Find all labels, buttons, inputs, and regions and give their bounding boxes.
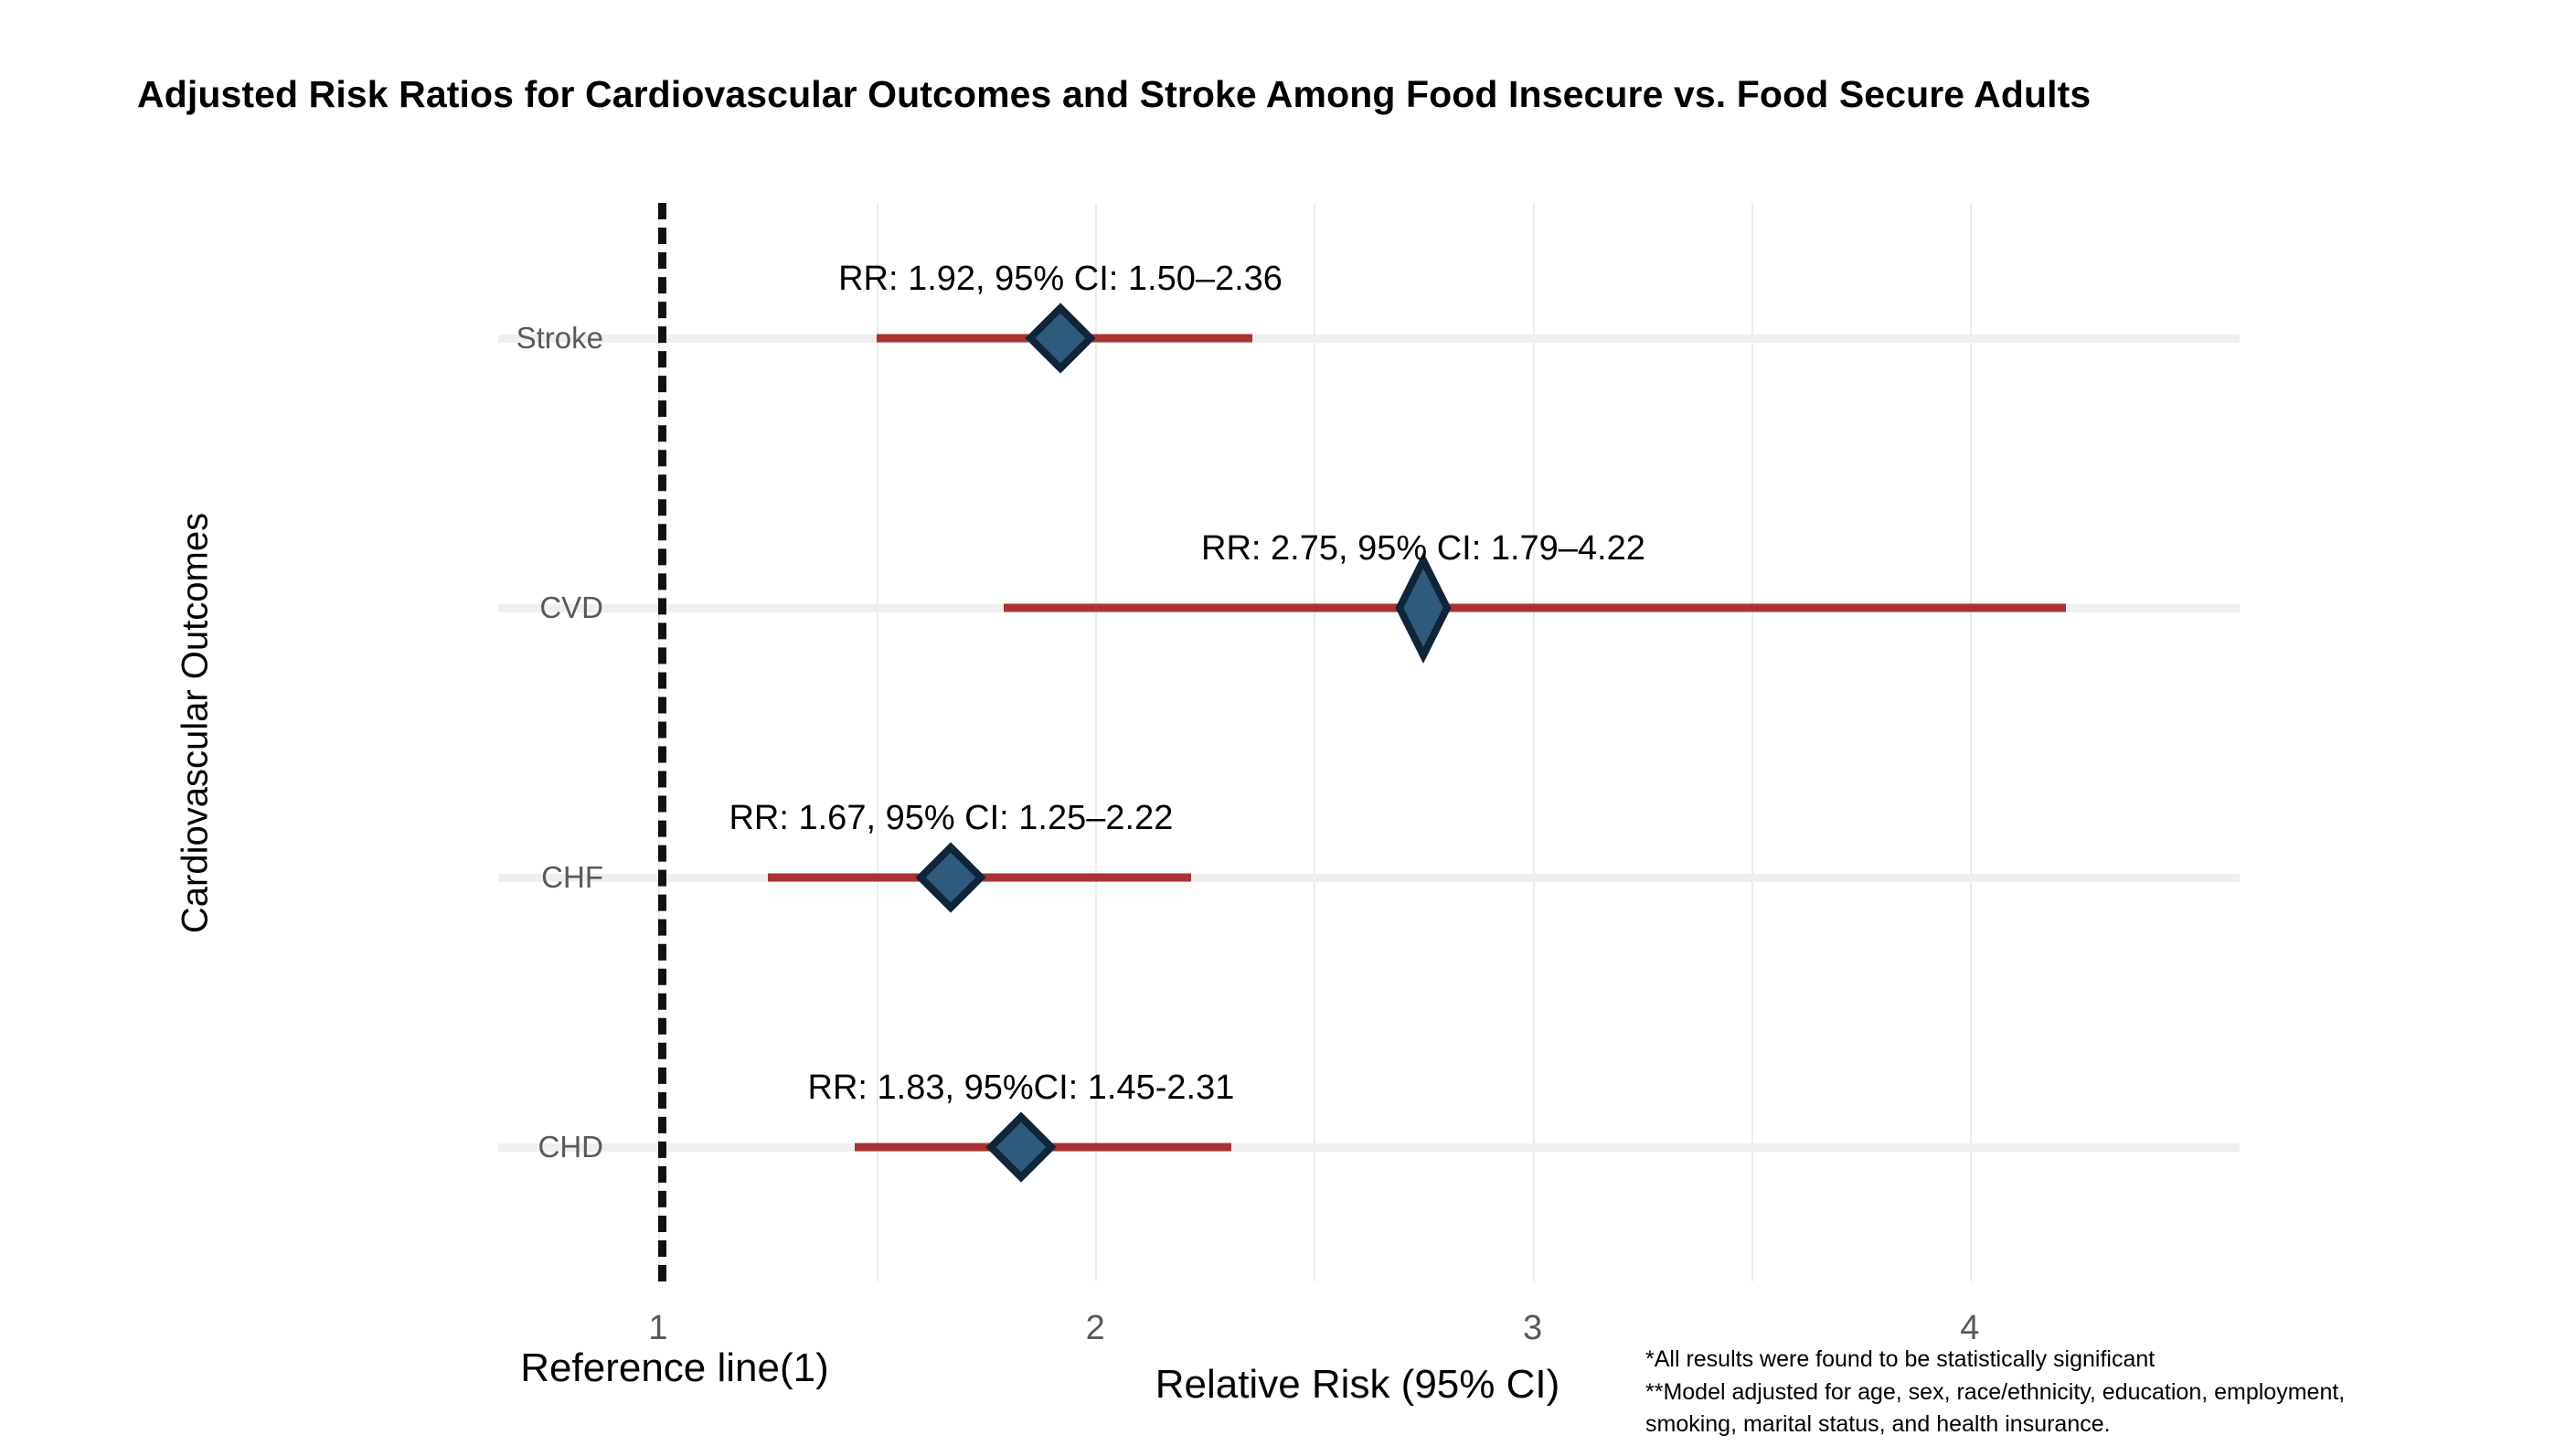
x-tick-label-4: 4: [1960, 1309, 1979, 1348]
x-tick-label-1: 1: [648, 1309, 667, 1348]
y-tick-label-chd: CHD: [274, 1130, 603, 1164]
footnote-line-1: *All results were found to be statistica…: [1645, 1344, 2345, 1377]
x-gridline: [1970, 203, 1972, 1281]
x-axis-title: Relative Risk (95% CI): [1155, 1362, 1560, 1408]
x-gridline: [1314, 203, 1315, 1281]
point-label-chd: RR: 1.83, 95%CI: 1.45-2.31: [808, 1069, 1235, 1108]
marker-diamond-chd: [985, 1111, 1058, 1184]
reference-line: [658, 203, 666, 1281]
reference-line-caption: Reference line(1): [520, 1345, 829, 1391]
forest-plot-figure: Adjusted Risk Ratios for Cardiovascular …: [0, 0, 2576, 1446]
point-label-chf: RR: 1.67, 95% CI: 1.25–2.22: [729, 799, 1173, 838]
x-gridline: [1751, 203, 1753, 1281]
footnote-line-2: **Model adjusted for age, sex, race/ethn…: [1645, 1377, 2345, 1409]
marker-diamond-cvd: [1393, 554, 1453, 662]
y-tick-label-cvd: CVD: [274, 590, 603, 625]
y-axis-title: Cardiovascular Outcomes: [176, 513, 217, 933]
point-label-stroke: RR: 1.92, 95% CI: 1.50–2.36: [838, 260, 1283, 299]
footnote-line-3: smoking, marital status, and health insu…: [1645, 1409, 2345, 1441]
footnotes: *All results were found to be statistica…: [1645, 1344, 2345, 1441]
x-gridline: [1533, 203, 1535, 1281]
plot-area: StrokeCVDCHFCHDRR: 1.92, 95% CI: 1.50–2.…: [658, 203, 2166, 1281]
y-tick-label-chf: CHF: [274, 860, 603, 895]
marker-diamond-chf: [914, 841, 987, 914]
y-gridline: [498, 874, 2240, 882]
y-gridline: [498, 1143, 2240, 1152]
marker-diamond-stroke: [1024, 302, 1097, 375]
x-gridline: [877, 203, 878, 1281]
ci-line-cvd: [1004, 603, 2066, 611]
y-gridline: [498, 335, 2240, 343]
page-title: Adjusted Risk Ratios for Cardiovascular …: [137, 73, 2091, 116]
x-tick-label-3: 3: [1523, 1309, 1542, 1348]
y-tick-label-stroke: Stroke: [274, 321, 603, 356]
point-label-cvd: RR: 2.75, 95% CI: 1.79–4.22: [1201, 529, 1645, 569]
x-tick-label-2: 2: [1086, 1309, 1105, 1348]
